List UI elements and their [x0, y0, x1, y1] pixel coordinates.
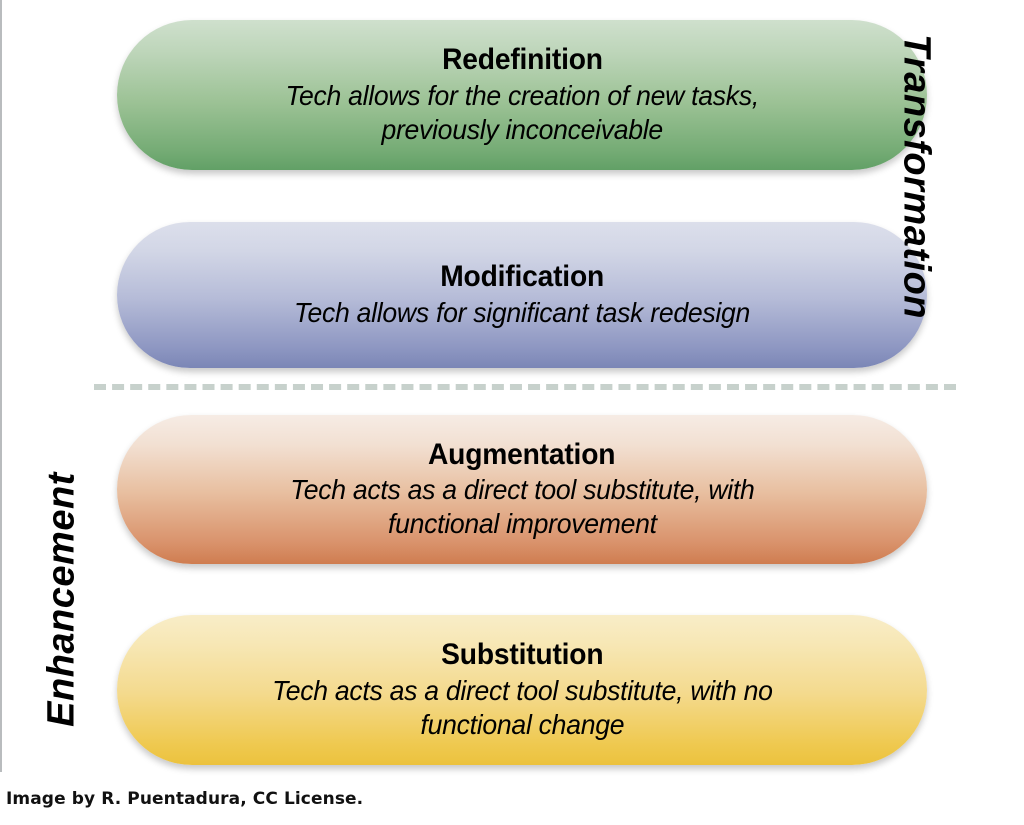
bar-description-substitution: Tech acts as a direct tool substitute, w… — [249, 674, 795, 742]
samr-bar-substitution: Substitution Tech acts as a direct tool … — [117, 615, 927, 765]
bar-description-line: Tech allows for the creation of new task… — [285, 79, 758, 113]
zone-divider-dashed-line — [94, 384, 956, 390]
bar-description-line: Tech acts as a direct tool substitute, w… — [272, 674, 772, 708]
bar-description-line: Tech allows for significant task redesig… — [294, 296, 750, 330]
samr-diagram: Redefinition Tech allows for the creatio… — [0, 0, 1024, 772]
zone-label-transformation: Transformation — [895, 17, 938, 337]
bar-title-substitution: Substitution — [441, 638, 603, 672]
bar-description-augmentation: Tech acts as a direct tool substitute, w… — [267, 473, 777, 541]
zone-label-enhancement: Enhancement — [41, 440, 84, 760]
bar-title-modification: Modification — [440, 260, 604, 294]
bar-description-line: functional improvement — [290, 507, 754, 541]
samr-bar-redefinition: Redefinition Tech allows for the creatio… — [117, 20, 927, 170]
bar-description-modification: Tech allows for significant task redesig… — [271, 296, 773, 330]
samr-bar-augmentation: Augmentation Tech acts as a direct tool … — [117, 415, 927, 564]
image-credit-caption: Image by R. Puentadura, CC License. — [6, 789, 363, 809]
samr-bar-modification: Modification Tech allows for significant… — [117, 222, 927, 368]
bar-description-line: previously inconceivable — [285, 113, 758, 147]
bar-title-redefinition: Redefinition — [442, 43, 603, 77]
bar-description-line: Tech acts as a direct tool substitute, w… — [290, 473, 754, 507]
bar-description-redefinition: Tech allows for the creation of new task… — [262, 79, 781, 147]
bar-title-augmentation: Augmentation — [428, 438, 615, 472]
bar-description-line: functional change — [272, 708, 772, 742]
